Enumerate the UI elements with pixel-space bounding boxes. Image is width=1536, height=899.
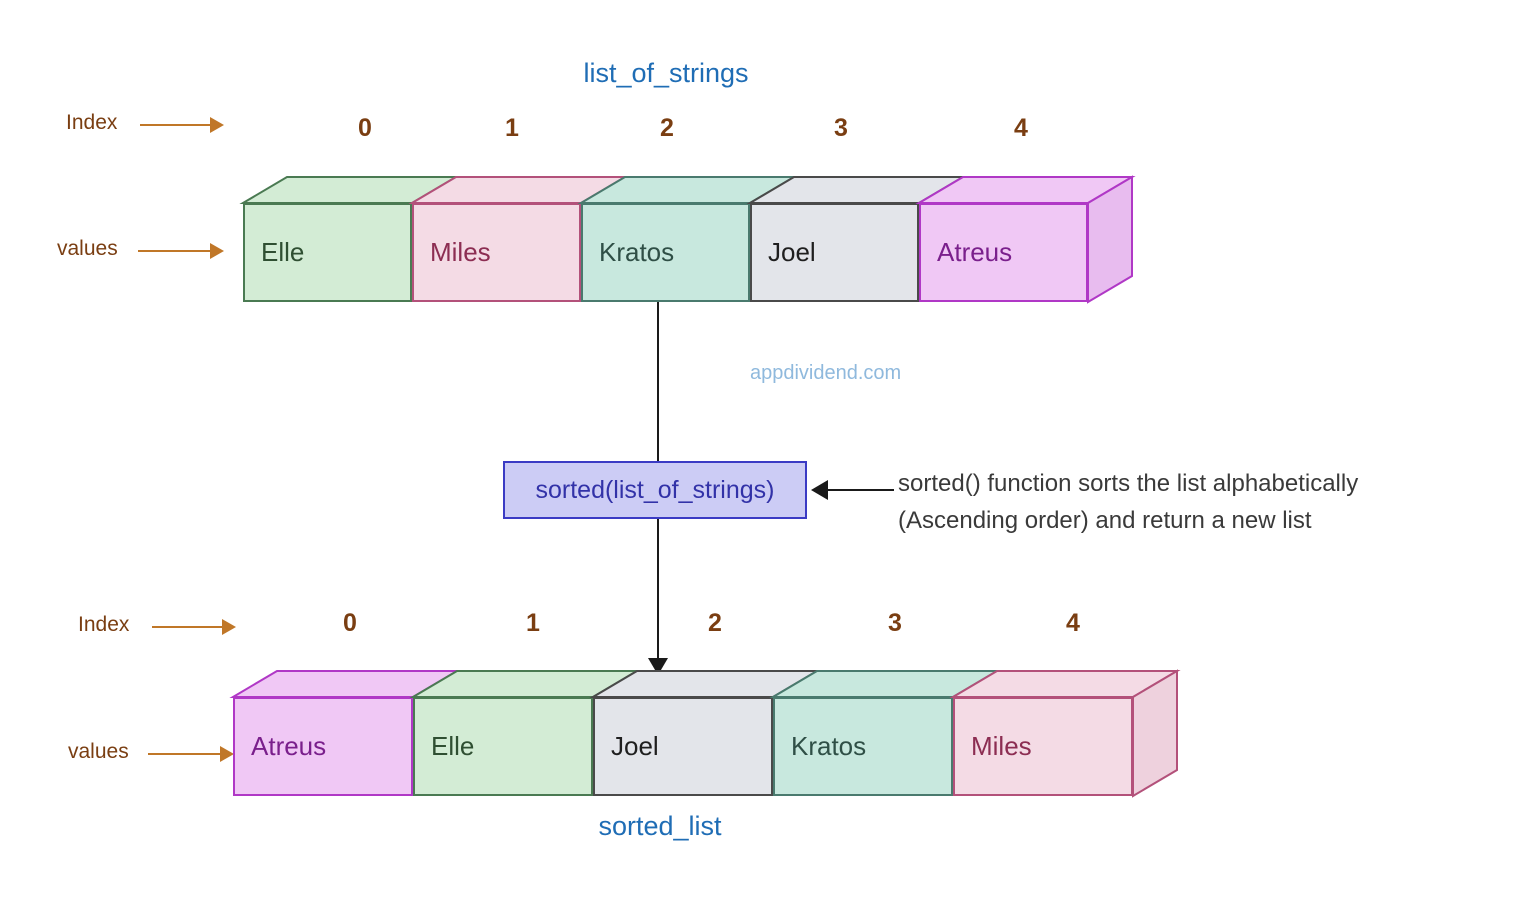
diagram-canvas: list_of_strings Index 0 1 2 3 4 values E… <box>0 0 1536 899</box>
bottom-array-cell-4-front-face: Miles <box>953 697 1133 796</box>
bottom-array: AtreusElleJoelKratosMiles <box>0 0 1536 899</box>
bottom-array-cell-0-value: Atreus <box>235 731 326 762</box>
bottom-array-cell-3-value: Kratos <box>775 731 866 762</box>
bottom-array-cell-4-right-face <box>1133 671 1179 798</box>
bottom-array-cell-0-front-face: Atreus <box>233 697 413 796</box>
bottom-array-title: sorted_list <box>540 811 780 842</box>
bottom-array-cell-2-front-face: Joel <box>593 697 773 796</box>
bottom-array-cell-2-value: Joel <box>595 731 659 762</box>
bottom-array-cell-3-front-face: Kratos <box>773 697 953 796</box>
bottom-array-cell-1-value: Elle <box>415 731 474 762</box>
bottom-array-cell-4-value: Miles <box>955 731 1032 762</box>
bottom-array-cell-1-front-face: Elle <box>413 697 593 796</box>
